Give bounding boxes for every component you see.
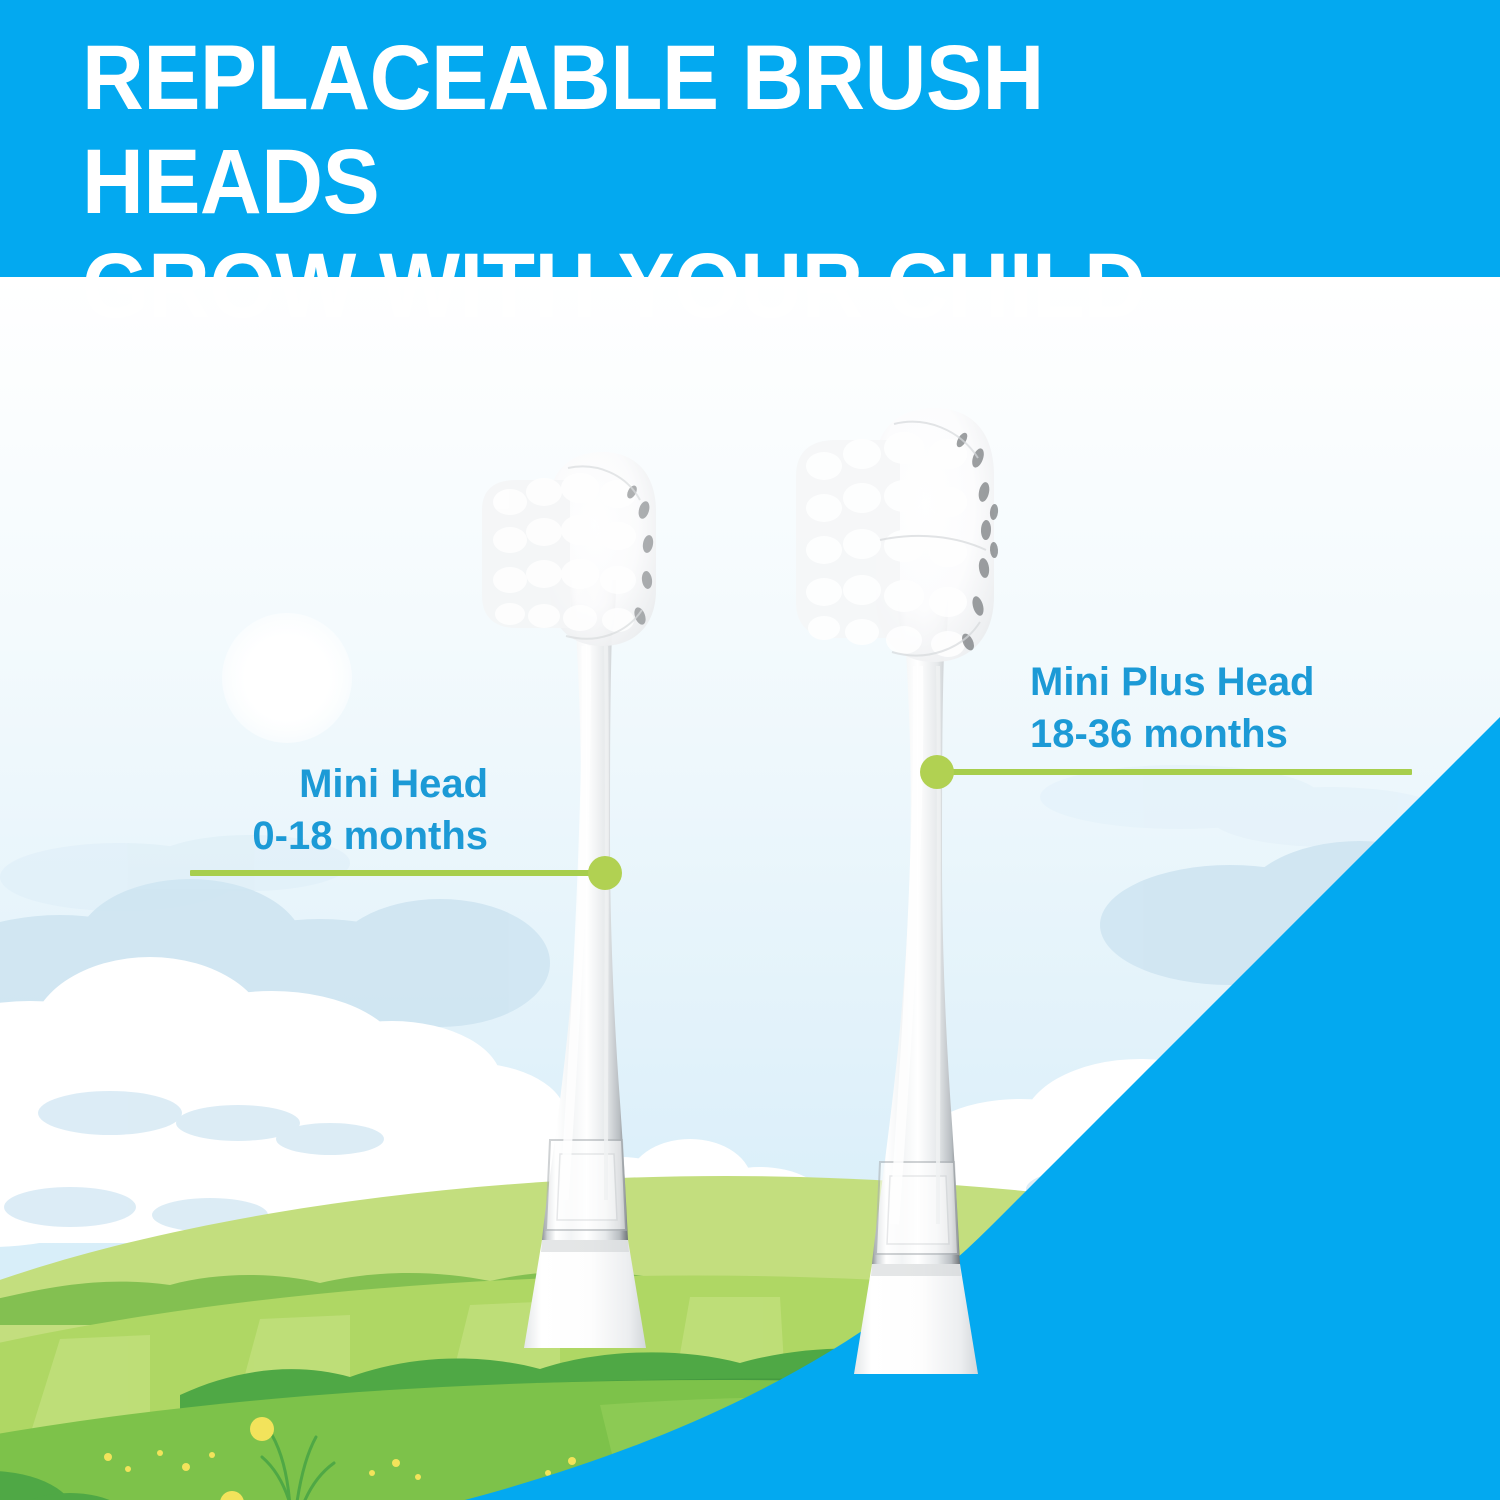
header-banner: REPLACEABLE BRUSH HEADS GROW WITH YOUR C… [0,0,1500,277]
callout-label-mini: Mini Head 0-18 months [0,758,500,862]
brush-bristles-mini [482,452,656,646]
brush-base-rim-mini-plus [871,1264,961,1276]
product-brush-head-mini-plus [748,400,1068,1440]
callout-line-mini [190,870,610,876]
brush-base-mini [524,1240,646,1348]
sun-icon [222,613,352,743]
product-brush-head-mini [430,440,730,1440]
callout-dot-mini-plus [920,755,954,789]
callout-label-mini-plus: Mini Plus Head 18-36 months [1030,656,1480,760]
brush-base-mini-plus [854,1264,978,1374]
infographic-canvas: REPLACEABLE BRUSH HEADS GROW WITH YOUR C… [0,0,1500,1500]
callout-dot-mini [588,856,622,890]
callout-line-mini-plus [932,769,1412,775]
page-title: REPLACEABLE BRUSH HEADS GROW WITH YOUR C… [82,26,1319,338]
brush-base-rim-mini [541,1240,629,1252]
brush-bristles-mini-plus [796,408,999,662]
